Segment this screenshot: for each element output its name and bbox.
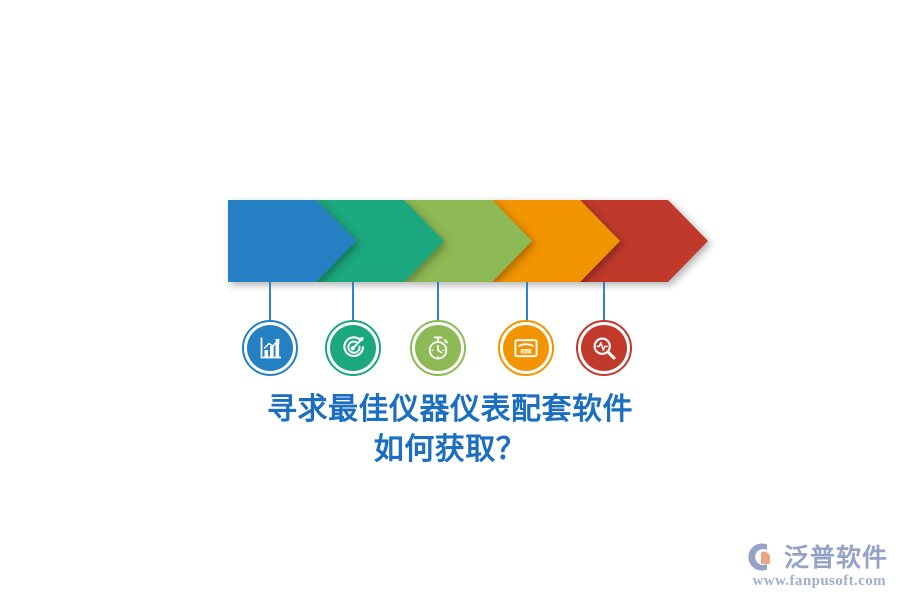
- infographic-canvas: 泛普软件 寻求最佳仪器仪表配套软件 如何获取？ 泛普软件 www.fanpuso…: [0, 0, 900, 600]
- watermark-url-text: www.fanpusoft.com: [753, 573, 886, 590]
- connector-stem-1: [269, 282, 271, 322]
- connector-stem-5: [603, 282, 605, 322]
- icon-disc: 泛普软件: [503, 325, 549, 371]
- icon-disc: [581, 325, 627, 371]
- watermark: 泛普软件 www.fanpusoft.com: [745, 542, 888, 590]
- magnifier-pulse-icon: [590, 334, 618, 362]
- chevron-shape-icon: [228, 200, 356, 282]
- icon-node-step-4[interactable]: 泛普软件: [498, 320, 554, 376]
- bar-chart-growth-icon: [256, 334, 284, 362]
- icon-node-step-2[interactable]: [325, 320, 381, 376]
- watermark-brand-text: 泛普软件: [784, 545, 888, 570]
- connector-stem-4: [526, 282, 528, 322]
- headline-line-2: 如何获取？: [0, 430, 900, 470]
- icon-node-step-1[interactable]: [242, 320, 298, 376]
- icon-disc: [415, 325, 461, 371]
- stopwatch-icon: [424, 334, 452, 362]
- headline-line-1: 寻求最佳仪器仪表配套软件: [0, 390, 900, 430]
- icon-node-step-3[interactable]: [410, 320, 466, 376]
- icon-node-step-5[interactable]: [576, 320, 632, 376]
- connector-stem-3: [437, 282, 439, 322]
- chevron-band: [228, 200, 688, 282]
- software-screen-icon: 泛普软件: [512, 334, 540, 362]
- software-screen-label: 泛普软件: [519, 349, 533, 354]
- fanpu-logo-icon: [745, 542, 779, 572]
- connector-stem-2: [352, 282, 354, 322]
- watermark-brand-row: 泛普软件: [745, 542, 888, 572]
- target-arrow-icon: [339, 334, 367, 362]
- headline: 寻求最佳仪器仪表配套软件 如何获取？: [0, 390, 900, 470]
- icon-disc: [247, 325, 293, 371]
- icon-disc: [330, 325, 376, 371]
- chevron-step-1[interactable]: [228, 200, 356, 282]
